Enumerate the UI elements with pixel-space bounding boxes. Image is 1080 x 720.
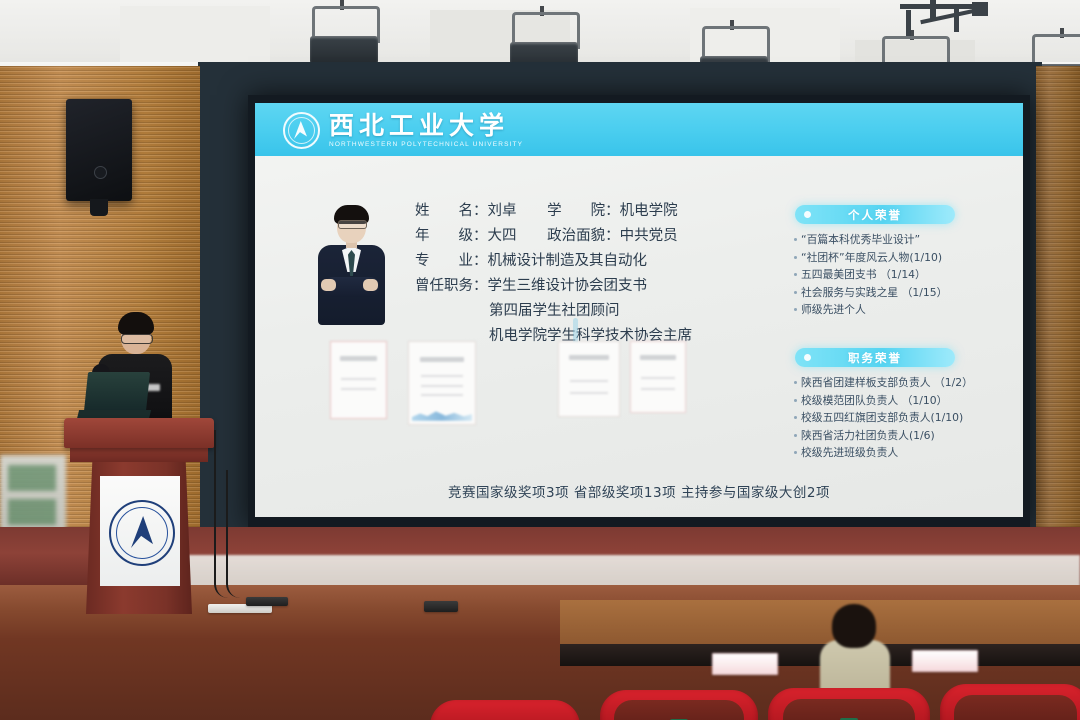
info-row-positions: 曾任职务：学生三维设计协会团支书: [415, 274, 745, 299]
projection-screen: 西北工业大学 NORTHWESTERN POLYTECHNICAL UNIVER…: [248, 95, 1030, 527]
list-item: 五四最美团支书 （1/14）: [795, 266, 993, 284]
list-item: 校级五四红旗团支部负责人(1/10): [795, 409, 993, 427]
label-political: 政治面貌：: [547, 224, 620, 249]
university-name-cn: 西北工业大学: [329, 113, 523, 138]
lecture-hall-scene: 西北工业大学 NORTHWESTERN POLYTECHNICAL UNIVER…: [0, 0, 1080, 720]
presentation-slide: 西北工业大学 NORTHWESTERN POLYTECHNICAL UNIVER…: [255, 103, 1023, 517]
university-logo: 西北工业大学 NORTHWESTERN POLYTECHNICAL UNIVER…: [283, 112, 523, 149]
badge-dot-icon: [804, 354, 811, 361]
list-item: 陕西省团建样板支部负责人 （1/2）: [795, 374, 993, 392]
list-item: 陕西省活力社团负责人(1/6): [795, 427, 993, 445]
label-name: 姓 名：: [415, 199, 488, 224]
list-item: “社团杯”年度风云人物(1/10): [795, 249, 993, 267]
honors-list-2: 陕西省团建样板支部负责人 （1/2） 校级模范团队负责人 （1/10） 校级五四…: [795, 374, 993, 462]
label-grade: 年 级：: [415, 224, 488, 249]
label-positions: 曾任职务：: [415, 274, 488, 299]
university-seal-icon: [283, 112, 320, 149]
student-portrait-photo: [313, 205, 390, 325]
label-major: 专 业：: [415, 249, 488, 274]
podium-university-seal-icon: [109, 500, 175, 566]
panel-title-badge-2: 职务荣誉: [795, 348, 955, 367]
panel-title-2: 职务荣誉: [848, 350, 902, 366]
list-item: 社会服务与实践之星 （1/15）: [795, 284, 993, 302]
value-college: 机电学院: [620, 203, 678, 219]
info-row-major: 专 业：机械设计制造及其自动化: [415, 249, 745, 274]
value-positions: 学生三维设计协会团支书: [488, 278, 648, 294]
value-major: 机械设计制造及其自动化: [488, 253, 648, 269]
info-row-name: 姓 名：刘卓 学 院：机电学院: [415, 199, 745, 224]
list-item: “百篇本科优秀毕业设计”: [795, 231, 993, 249]
wall-speaker: [66, 99, 132, 201]
wood-wall-right: [1036, 66, 1080, 542]
slide-footer-summary: 竞赛国家级奖项3项 省部级奖项13项 主持参与国家级大创2项: [255, 481, 1023, 501]
audience-seat-1[interactable]: [600, 690, 758, 720]
panel-position-honors: 职务荣誉 陕西省团建样板支部负责人 （1/2） 校级模范团队负责人 （1/10）…: [795, 348, 993, 462]
certificate-thumbnails: [330, 341, 750, 423]
ceiling-truss-rig: [900, 0, 1030, 70]
honors-list-1: “百篇本科优秀毕业设计” “社团杯”年度风云人物(1/10) 五四最美团支书 （…: [795, 231, 993, 319]
value-name: 刘卓: [488, 203, 517, 219]
certificate-3: [558, 341, 620, 417]
value-political: 中共党员: [620, 228, 678, 244]
panel-title-badge-1: 个人荣誉: [795, 205, 955, 224]
presenter-laptop: [78, 372, 148, 416]
panel-title-1: 个人荣誉: [848, 207, 902, 223]
podium: [64, 418, 214, 614]
badge-dot-icon: [804, 211, 811, 218]
audience-seat-3[interactable]: [940, 684, 1080, 720]
info-row-grade: 年 级：大四 政治面貌：中共党员: [415, 224, 745, 249]
panel-personal-honors: 个人荣誉 “百篇本科优秀毕业设计” “社团杯”年度风云人物(1/10) 五四最美…: [795, 205, 993, 319]
floor-adapter: [424, 601, 458, 612]
name-placard-right: [912, 650, 978, 672]
podium-plaque: [100, 476, 180, 586]
name-placard-left: [712, 653, 778, 675]
university-name-en: NORTHWESTERN POLYTECHNICAL UNIVERSITY: [329, 142, 523, 149]
power-cable-2: [226, 470, 250, 598]
power-strip-dark: [246, 597, 288, 606]
certificate-1: [330, 341, 387, 419]
label-college: 学 院：: [547, 199, 620, 224]
slide-header-band: 西北工业大学 NORTHWESTERN POLYTECHNICAL UNIVER…: [255, 103, 1023, 156]
list-item: 师级先进个人: [795, 301, 993, 319]
list-item: 校级模范团队负责人 （1/10）: [795, 392, 993, 410]
value-grade: 大四: [488, 228, 517, 244]
certificate-4: [630, 341, 686, 413]
list-item: 校级先进班级负责人: [795, 444, 993, 462]
audience-seat-2[interactable]: [768, 688, 930, 720]
audience-seat-4[interactable]: [430, 700, 580, 720]
certificate-2: [408, 341, 476, 425]
